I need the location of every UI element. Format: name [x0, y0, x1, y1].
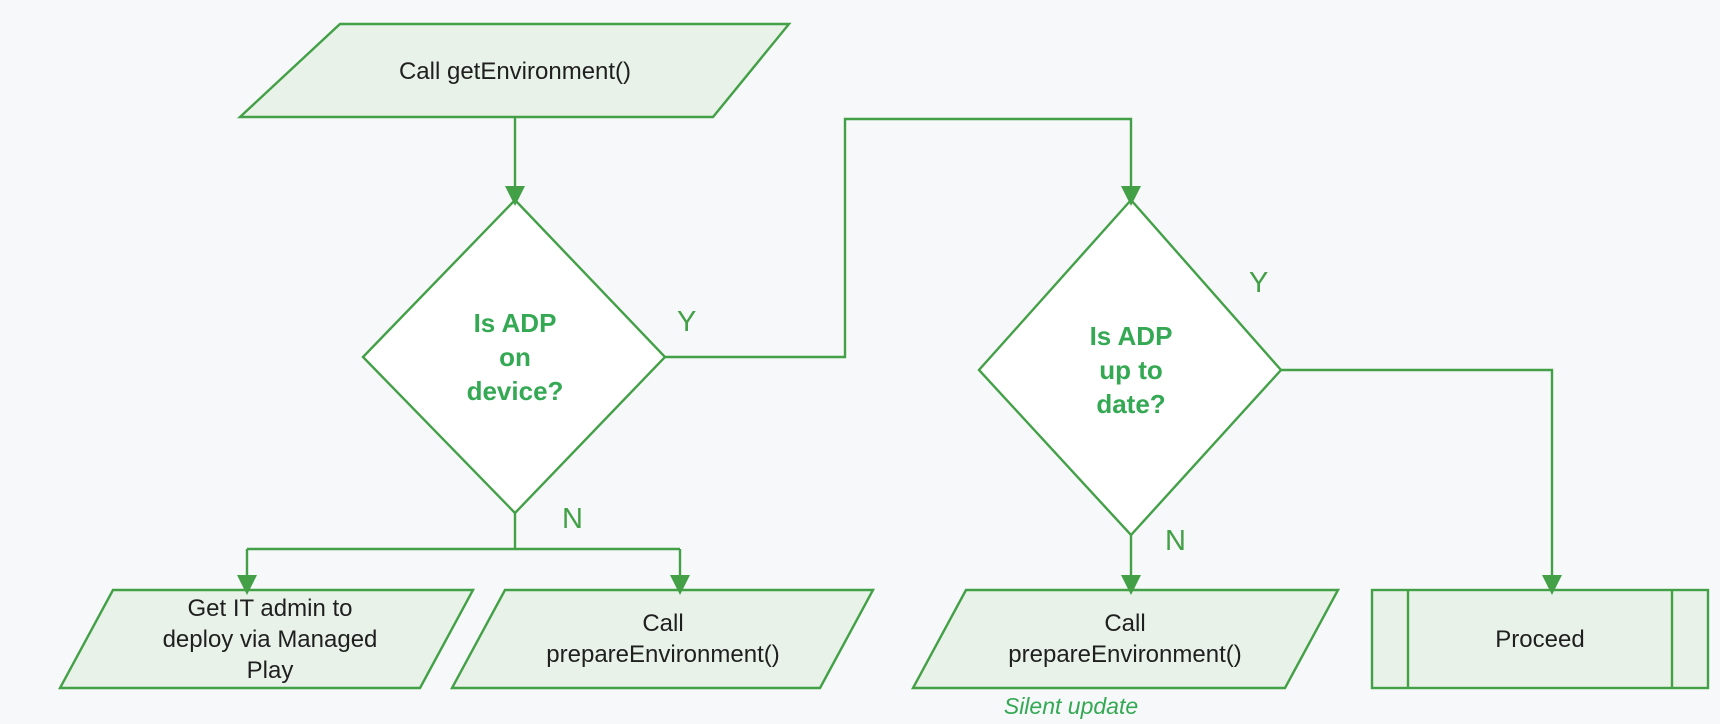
node-call-get-environment[interactable] [240, 24, 789, 117]
node-decision-adp-up-to-date[interactable] [979, 200, 1281, 535]
node-decision-adp-on-device[interactable] [363, 200, 665, 513]
node-proceed[interactable] [1372, 590, 1708, 688]
node-call-prepare-environment-right[interactable] [913, 590, 1338, 688]
node-get-it-admin[interactable] [60, 590, 473, 688]
node-call-prepare-environment-left[interactable] [452, 590, 873, 688]
flowchart-canvas: Call getEnvironment() Is ADP on device? … [0, 0, 1720, 724]
edge-uptodate-yes-to-proceed [1281, 370, 1552, 578]
